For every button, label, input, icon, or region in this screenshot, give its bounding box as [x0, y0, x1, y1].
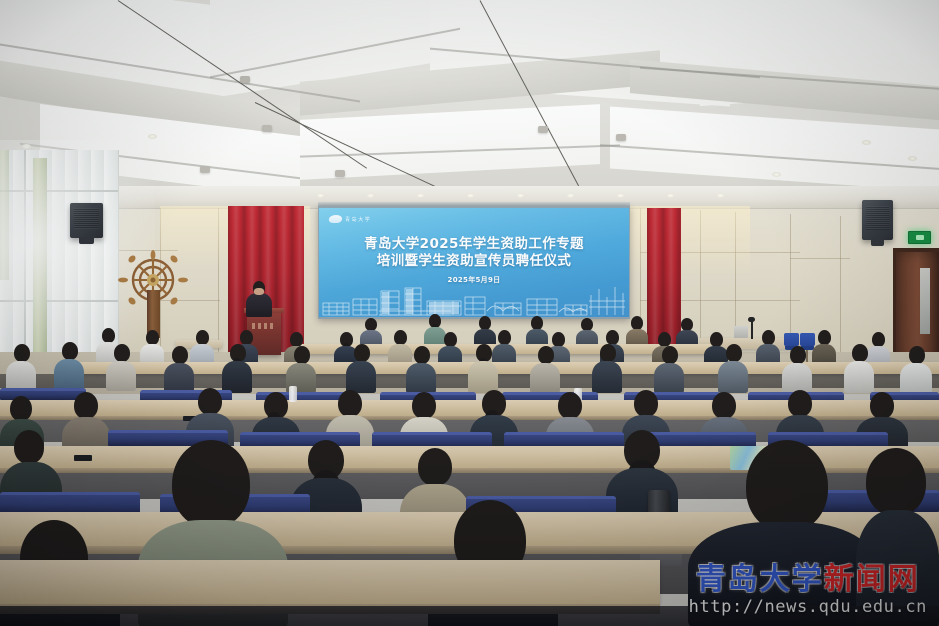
screen-logo-text: 青岛大学	[345, 216, 371, 223]
downlight-icon	[716, 193, 725, 198]
audience-member	[54, 342, 84, 388]
downlight-icon	[862, 140, 871, 145]
audience-member	[6, 344, 36, 388]
audience-member	[782, 346, 812, 390]
university-emblem-icon	[328, 215, 342, 223]
downlight-icon	[366, 193, 375, 198]
ceiling-fixture-icon	[538, 126, 548, 133]
ceiling-fixture-icon	[262, 125, 272, 132]
downlight-icon	[908, 156, 917, 161]
ceiling	[0, 0, 939, 200]
ceiling-fixture-icon	[240, 76, 250, 83]
audience-member	[106, 344, 136, 388]
downlight-icon	[466, 193, 475, 198]
audience-member	[900, 346, 932, 392]
downlight-icon	[148, 134, 157, 139]
desk-row-6	[0, 560, 660, 604]
audience-member	[468, 344, 498, 390]
laptop[interactable]	[734, 326, 748, 338]
campus-skyline-graphic	[319, 281, 629, 317]
downlight-icon	[566, 193, 575, 198]
audience-member	[756, 330, 780, 366]
downlight-icon	[666, 193, 675, 198]
exit-person-icon	[916, 235, 924, 240]
ceiling-fixture-icon	[335, 170, 345, 177]
audience-member	[654, 346, 684, 390]
audience-member-foreground	[688, 440, 878, 626]
audience-member	[438, 332, 462, 366]
ship-wheel-decoration	[118, 250, 188, 322]
audience-member	[844, 344, 874, 390]
screen-title-line2: 培训暨学生资助宣传员聘任仪式	[319, 253, 629, 270]
mobile-phone[interactable]	[74, 455, 92, 461]
audience-member	[286, 346, 316, 390]
screen-title-line1: 青岛大学2025年学生资助工作专题	[319, 236, 629, 253]
event-photo: 青岛大学 青岛大学2025年学生资助工作专题 培训暨学生资助宣传员聘任仪式 20…	[0, 0, 939, 626]
audience-member	[530, 346, 560, 390]
ceiling-fixture-icon	[200, 166, 210, 173]
audience-member	[406, 346, 436, 390]
audience-member	[140, 330, 164, 364]
ceiling-fixture-icon	[616, 134, 626, 141]
microphone	[751, 320, 753, 339]
audience-member	[164, 346, 194, 390]
downlight-icon	[516, 193, 525, 198]
screen-logo: 青岛大学	[329, 215, 371, 223]
audience-member	[718, 344, 748, 390]
projection-screen[interactable]: 青岛大学 青岛大学2025年学生资助工作专题 培训暨学生资助宣传员聘任仪式 20…	[318, 206, 630, 319]
screen-title: 青岛大学2025年学生资助工作专题 培训暨学生资助宣传员聘任仪式	[319, 236, 629, 269]
left-wall-speaker	[70, 203, 103, 238]
window-curtain	[0, 150, 9, 280]
audience-member-foreground	[856, 448, 939, 626]
downlight-icon	[772, 172, 781, 177]
audience-member	[592, 344, 622, 390]
audience-member	[812, 330, 836, 366]
downlight-icon	[616, 193, 625, 198]
downlight-icon	[316, 193, 325, 198]
lectern-crest	[252, 323, 276, 329]
window-curtain	[33, 158, 47, 358]
downlight-icon	[22, 144, 31, 149]
seat-back	[0, 492, 140, 514]
downlight-icon	[416, 193, 425, 198]
exit-sign	[908, 231, 931, 244]
right-wall-speaker	[862, 200, 893, 240]
blue-chair[interactable]	[784, 333, 799, 346]
audience-member	[222, 344, 252, 390]
presenter	[246, 281, 272, 315]
audience-member	[346, 344, 376, 390]
microphone-head	[748, 317, 755, 322]
